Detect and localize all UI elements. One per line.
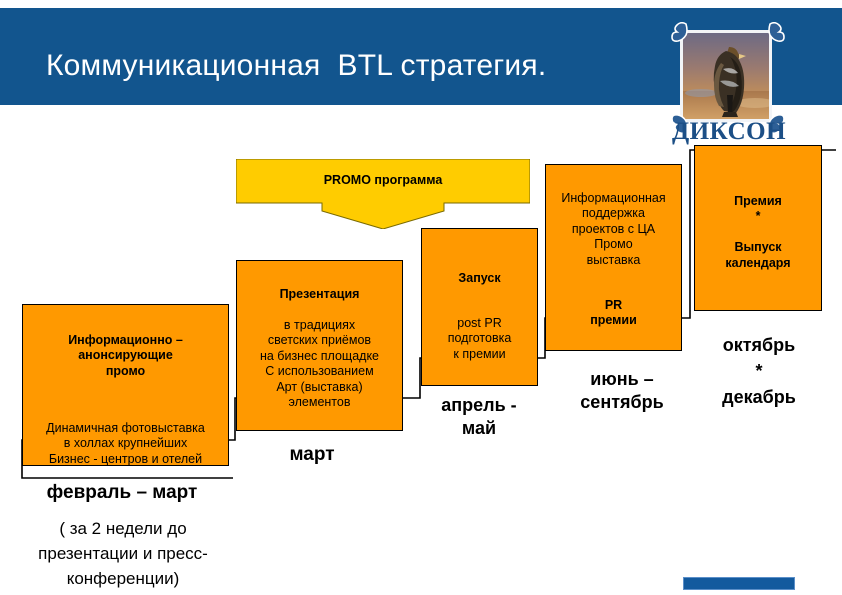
period-label-support: июнь – сентябрь <box>552 368 692 414</box>
stage-title: Запуск <box>422 271 537 287</box>
stage-body: в традициях светских приёмов на бизнес п… <box>237 318 402 411</box>
period-label-award: октябрь * декабрь <box>694 332 824 410</box>
logo-caption: ДИКСОН <box>664 118 794 146</box>
stage-box-presentation[interactable]: Презентация в традициях светских приёмов… <box>236 260 403 431</box>
corner-ornament-icon <box>755 22 785 44</box>
corner-ornament-icon <box>671 22 701 44</box>
bottom-accent-bar <box>683 577 795 590</box>
stage-box-info-promo[interactable]: Информационно – анонсирующие промо Динам… <box>22 304 229 466</box>
stage-box-launch[interactable]: Запуск post PR подготовка к премии <box>421 228 538 386</box>
promo-banner: PROMO программа <box>236 159 530 229</box>
stage-title: Презентация <box>237 287 402 303</box>
promo-banner-label: PROMO программа <box>236 173 530 187</box>
stage-body: PR премии <box>546 298 681 329</box>
period-label-info-promo: февраль – март <box>8 481 236 504</box>
stage-body: Выпуск календаря <box>695 240 821 271</box>
page-title: Коммуникационная BTL стратегия. <box>46 48 666 84</box>
period-label-presentation: март <box>232 443 392 466</box>
stage-box-support[interactable]: Информационная поддержка проектов с ЦА П… <box>545 164 682 351</box>
stage-box-award[interactable]: Премия * Выпуск календаря <box>694 145 822 311</box>
stage-body: post PR подготовка к премии <box>422 316 537 363</box>
period-label-launch: апрель - май <box>414 394 544 440</box>
stage-title: Премия * <box>695 194 821 225</box>
slide-canvas: Коммуникационная BTL стратегия. <box>0 0 842 595</box>
stage-title: Информационно – анонсирующие промо <box>23 333 228 380</box>
stage-title: Информационная поддержка проектов с ЦА П… <box>546 191 681 269</box>
stage-body: Динамичная фотовыставка в холлах крупней… <box>23 421 228 468</box>
footnote-info-promo: ( за 2 недели до презентации и пресс- ко… <box>0 516 246 591</box>
